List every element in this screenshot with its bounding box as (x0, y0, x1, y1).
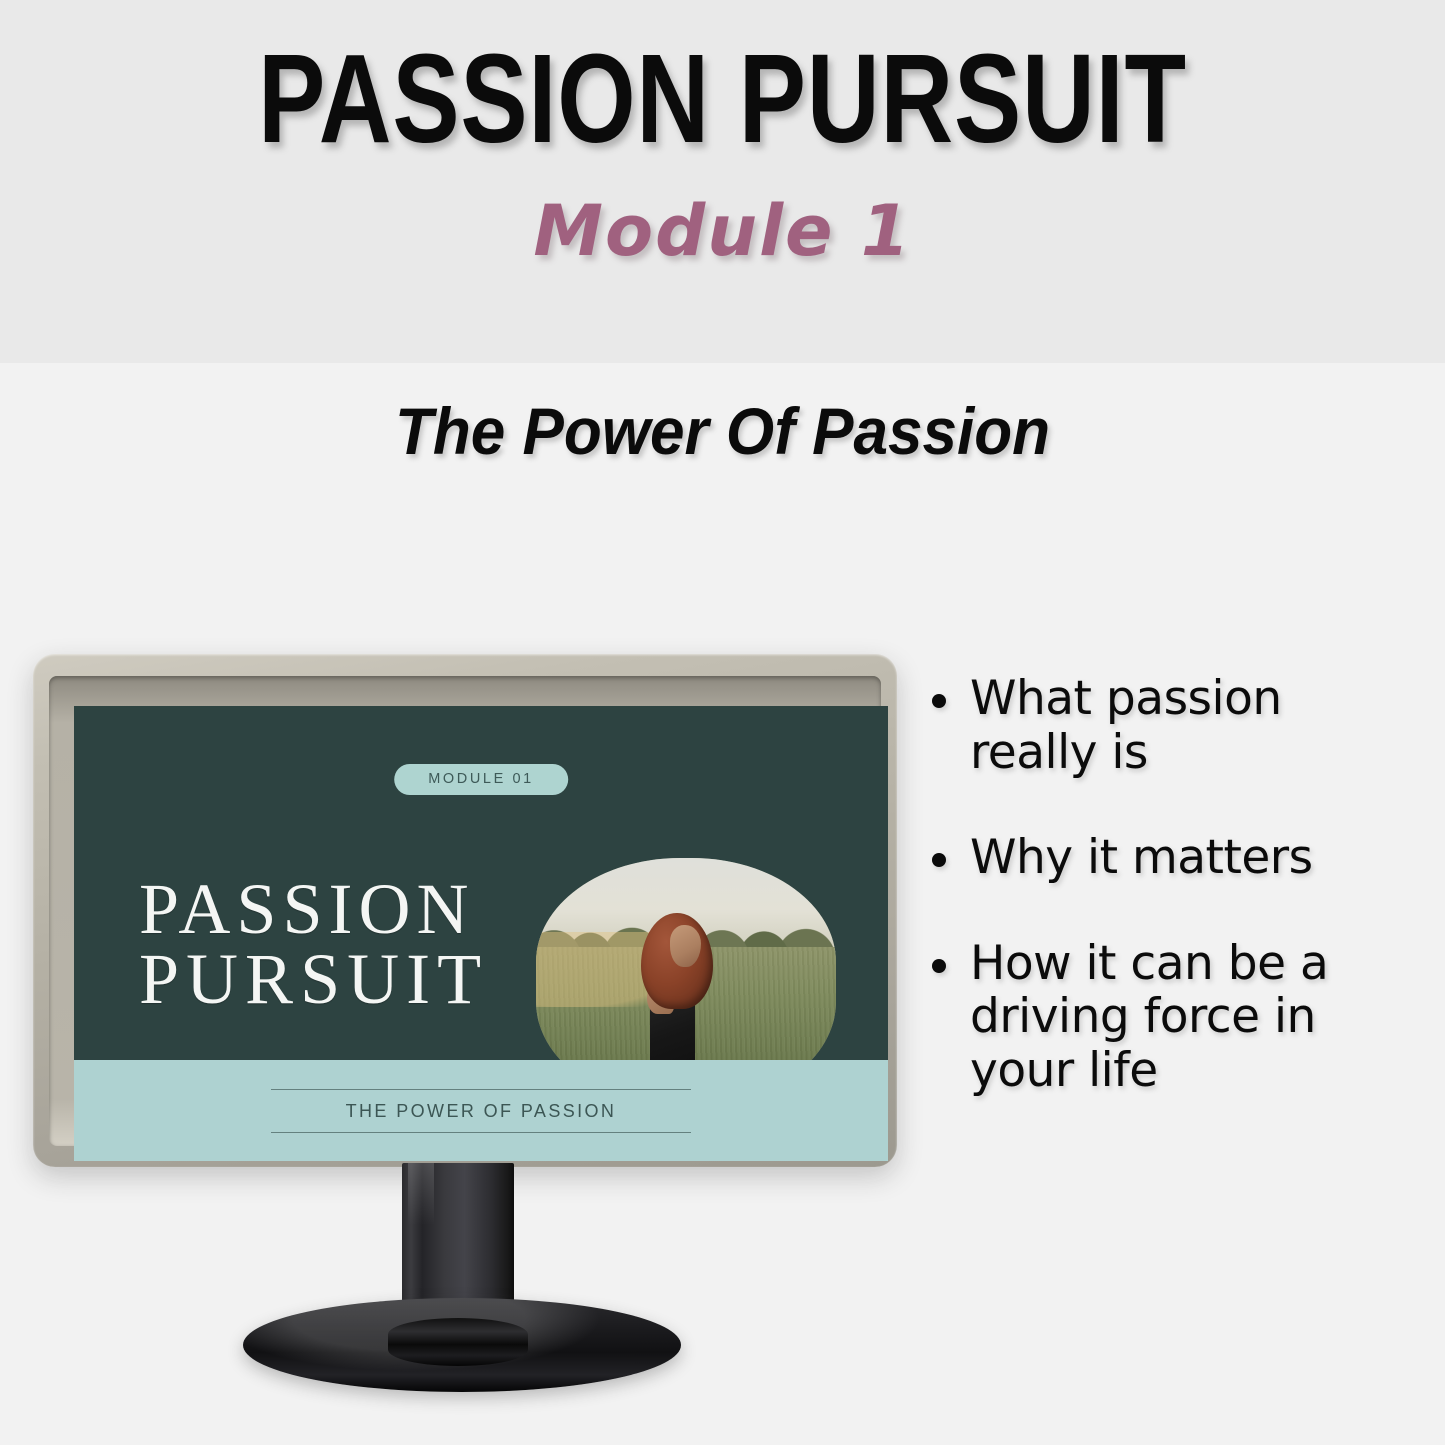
monitor-mockup: MODULE 01 PASSION PURSUIT (33, 654, 897, 1167)
list-item: How it can be a driving force in your li… (932, 937, 1362, 1098)
page-title: PASSION PURSUIT (145, 36, 1301, 162)
section-subtitle: The Power Of Passion (43, 398, 1401, 464)
list-item: What passion really is (932, 672, 1362, 779)
bullet-dot-icon (932, 959, 946, 973)
monitor-stand-collar (388, 1318, 528, 1366)
photo-figure-face (670, 925, 702, 967)
slide-footer-inner: THE POWER OF PASSION (271, 1089, 691, 1133)
slide-brand-line-2: PURSUIT (139, 945, 488, 1015)
bullet-text: What passion really is (970, 672, 1362, 779)
monitor-bezel-inner: MODULE 01 PASSION PURSUIT (49, 676, 881, 1146)
bullet-dot-icon (932, 694, 946, 708)
bullet-text: How it can be a driving force in your li… (970, 937, 1362, 1098)
slide-module-badge: MODULE 01 (394, 764, 568, 795)
presentation-slide: MODULE 01 PASSION PURSUIT (74, 706, 888, 1161)
slide-footer-text: THE POWER OF PASSION (271, 1090, 691, 1132)
slide-brand-line-1: PASSION (139, 869, 474, 949)
slide-footer-rule-bottom (271, 1132, 691, 1133)
module-label: Module 1 (0, 196, 1445, 266)
bullet-list: What passion really is Why it matters Ho… (932, 672, 1362, 1149)
slide-brand-title: PASSION PURSUIT (139, 875, 488, 1015)
monitor-stand-gloss (408, 1163, 434, 1225)
slide-footer-band: THE POWER OF PASSION (74, 1060, 888, 1161)
monitor-screen: MODULE 01 PASSION PURSUIT (74, 706, 888, 1161)
monitor-bezel: MODULE 01 PASSION PURSUIT (33, 654, 897, 1167)
bullet-text: Why it matters (970, 831, 1313, 885)
bullet-dot-icon (932, 853, 946, 867)
list-item: Why it matters (932, 831, 1362, 885)
